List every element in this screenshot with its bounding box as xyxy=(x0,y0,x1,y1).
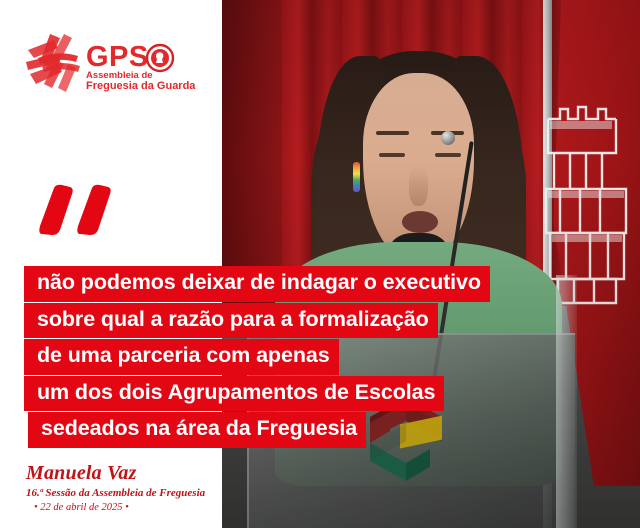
quote-line-text: não podemos deixar de indagar o executiv… xyxy=(24,266,490,302)
attribution-block: Manuela Vaz 16.ª Sessão da Assembleia de… xyxy=(26,462,205,513)
session-label: 16.ª Sessão da Assembleia de Freguesia xyxy=(26,487,205,499)
quote-line: sobre qual a razão para a formalização xyxy=(24,303,640,339)
quote-line-text: sobre qual a razão para a formalização xyxy=(24,303,438,339)
speaker-name: Manuela Vaz xyxy=(26,462,205,484)
logo-wordmark: GPS xyxy=(86,41,149,73)
quote-line-text: de uma parceria com apenas xyxy=(24,339,339,375)
logo-burst-mark xyxy=(26,34,80,92)
logo-circle-emblem xyxy=(147,45,173,71)
quote-line: não podemos deixar de indagar o executiv… xyxy=(24,266,640,302)
gps-logo: GPS Assembleia de Freguesia da Guarda xyxy=(24,32,204,94)
logo-subtitle-line2: Freguesia da Guarda xyxy=(86,80,196,92)
quote-card: GPS Assembleia de Freguesia da Guarda nã… xyxy=(0,0,640,528)
quote-line-text: sedeados na área da Freguesia xyxy=(28,412,366,448)
quotation-mark-icon xyxy=(36,182,114,238)
quote-line: sedeados na área da Freguesia xyxy=(28,412,640,448)
quote-line: de uma parceria com apenas xyxy=(24,339,640,375)
speaker-photo xyxy=(222,0,640,528)
photo-vignette xyxy=(222,0,640,528)
event-date: • 22 de abril de 2025 • xyxy=(34,502,205,513)
quote-line: um dos dois Agrupamentos de Escolas xyxy=(24,376,640,412)
quote-text-block: não podemos deixar de indagar o executiv… xyxy=(0,266,640,449)
quote-line-text: um dos dois Agrupamentos de Escolas xyxy=(24,376,444,412)
